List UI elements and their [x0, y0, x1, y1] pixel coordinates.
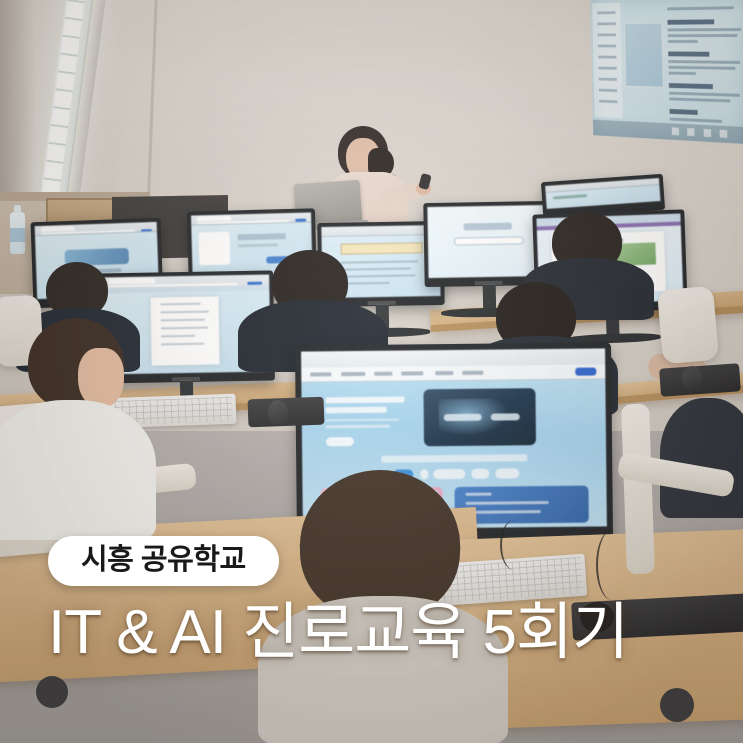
projector-document — [667, 6, 743, 120]
water-bottle — [10, 212, 25, 254]
badge-label: 시흥 공유학교 — [81, 546, 246, 575]
student-right-torso — [660, 398, 743, 518]
mouse-left[interactable] — [268, 400, 288, 424]
chair-caster-left — [36, 676, 68, 708]
student-front-left-body — [0, 400, 156, 540]
canva-card-label-2 — [491, 414, 520, 421]
canva-section-heading — [381, 454, 527, 463]
canva-hero-heading-2 — [326, 407, 387, 414]
bottle-label — [10, 228, 25, 242]
document-page — [150, 297, 219, 366]
canva-hero-image — [423, 388, 536, 446]
canva-hero-heading — [326, 397, 405, 404]
projector-sidebar — [592, 3, 623, 119]
poster-root: 시흥 공유학교 IT & AI 진로교육 5회기 — [0, 0, 743, 743]
canva-hero-button[interactable] — [326, 437, 353, 446]
student-front-left-face — [78, 348, 124, 408]
mouse-right[interactable] — [682, 366, 702, 389]
projector-screen — [590, 0, 743, 144]
poster-title: IT & AI 진로교육 5회기 — [48, 600, 698, 665]
chair-caster — [660, 688, 694, 722]
chair-back-right — [657, 286, 719, 365]
caption-overlay: 시흥 공유학교 IT & AI 진로교육 5회기 — [48, 536, 698, 665]
badge-pill: 시흥 공유학교 — [48, 536, 279, 586]
canva-signup-button[interactable] — [575, 367, 596, 376]
canva-card-label-1 — [444, 414, 482, 421]
projector-thumbnail — [624, 23, 664, 88]
